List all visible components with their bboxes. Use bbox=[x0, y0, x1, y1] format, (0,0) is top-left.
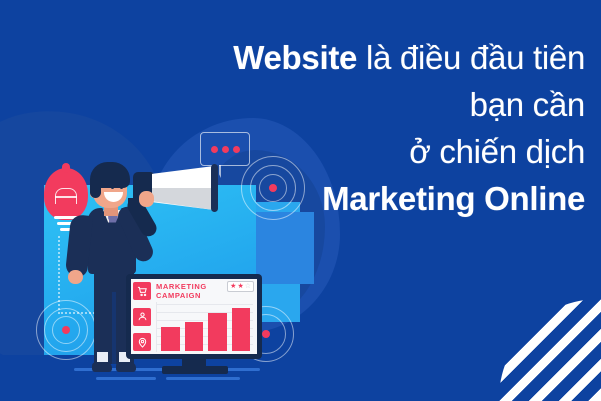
character-hand-left bbox=[68, 270, 83, 284]
chart-bar bbox=[232, 308, 251, 351]
poster-canvas: MARKETING CAMPAIGN ★ ★ ☆ Website là điều… bbox=[0, 0, 601, 401]
star-rating: ★ ★ ☆ bbox=[227, 281, 254, 292]
radar-target-3-dot bbox=[262, 330, 270, 338]
chart-bar bbox=[208, 313, 227, 351]
character-leg-gap bbox=[112, 292, 116, 364]
diagonal-stripes-corner bbox=[499, 299, 601, 401]
lightbulb-filament-bar bbox=[55, 196, 77, 198]
monitor-frame: MARKETING CAMPAIGN ★ ★ ☆ bbox=[126, 274, 262, 359]
headline-line-1: Website là điều đầu tiên bbox=[115, 34, 585, 81]
ground-line-3 bbox=[166, 377, 240, 380]
headline-line-3: ở chiến dịch bbox=[115, 128, 585, 175]
character-sock-left bbox=[97, 352, 108, 362]
monitor-screen: MARKETING CAMPAIGN ★ ★ ☆ bbox=[131, 279, 257, 354]
star-3: ☆ bbox=[245, 283, 251, 290]
chart-bar bbox=[185, 322, 204, 351]
star-1: ★ bbox=[230, 283, 236, 290]
character-shoe-right bbox=[116, 362, 136, 372]
cart-icon[interactable] bbox=[133, 282, 151, 300]
headline-line-1-rest: là điều đầu tiên bbox=[357, 39, 585, 76]
headline: Website là điều đầu tiên bạn cần ở chiến… bbox=[115, 34, 585, 222]
campaign-bar-chart bbox=[156, 302, 253, 352]
user-icon[interactable] bbox=[133, 308, 151, 326]
radar-target-dot bbox=[62, 326, 70, 334]
headline-line-4: Marketing Online bbox=[115, 175, 585, 222]
character-sideburn bbox=[90, 176, 101, 198]
monitor-base bbox=[162, 366, 228, 374]
headline-line-2: bạn cần bbox=[115, 81, 585, 128]
ground-line-2 bbox=[96, 377, 156, 380]
decor-panel-blue-small bbox=[250, 212, 314, 284]
character-shoe-left bbox=[92, 362, 112, 372]
star-2: ★ bbox=[237, 283, 243, 290]
chart-bar bbox=[161, 327, 180, 351]
monitor-content: MARKETING CAMPAIGN ★ ★ ☆ bbox=[153, 279, 257, 354]
pin-icon[interactable] bbox=[133, 333, 151, 351]
lightbulb-tip bbox=[62, 163, 70, 173]
ground-plane bbox=[0, 355, 330, 401]
monitor-sidebar bbox=[131, 279, 153, 354]
campaign-title-line2: CAMPAIGN bbox=[156, 291, 253, 300]
headline-keyword-website: Website bbox=[233, 39, 357, 76]
